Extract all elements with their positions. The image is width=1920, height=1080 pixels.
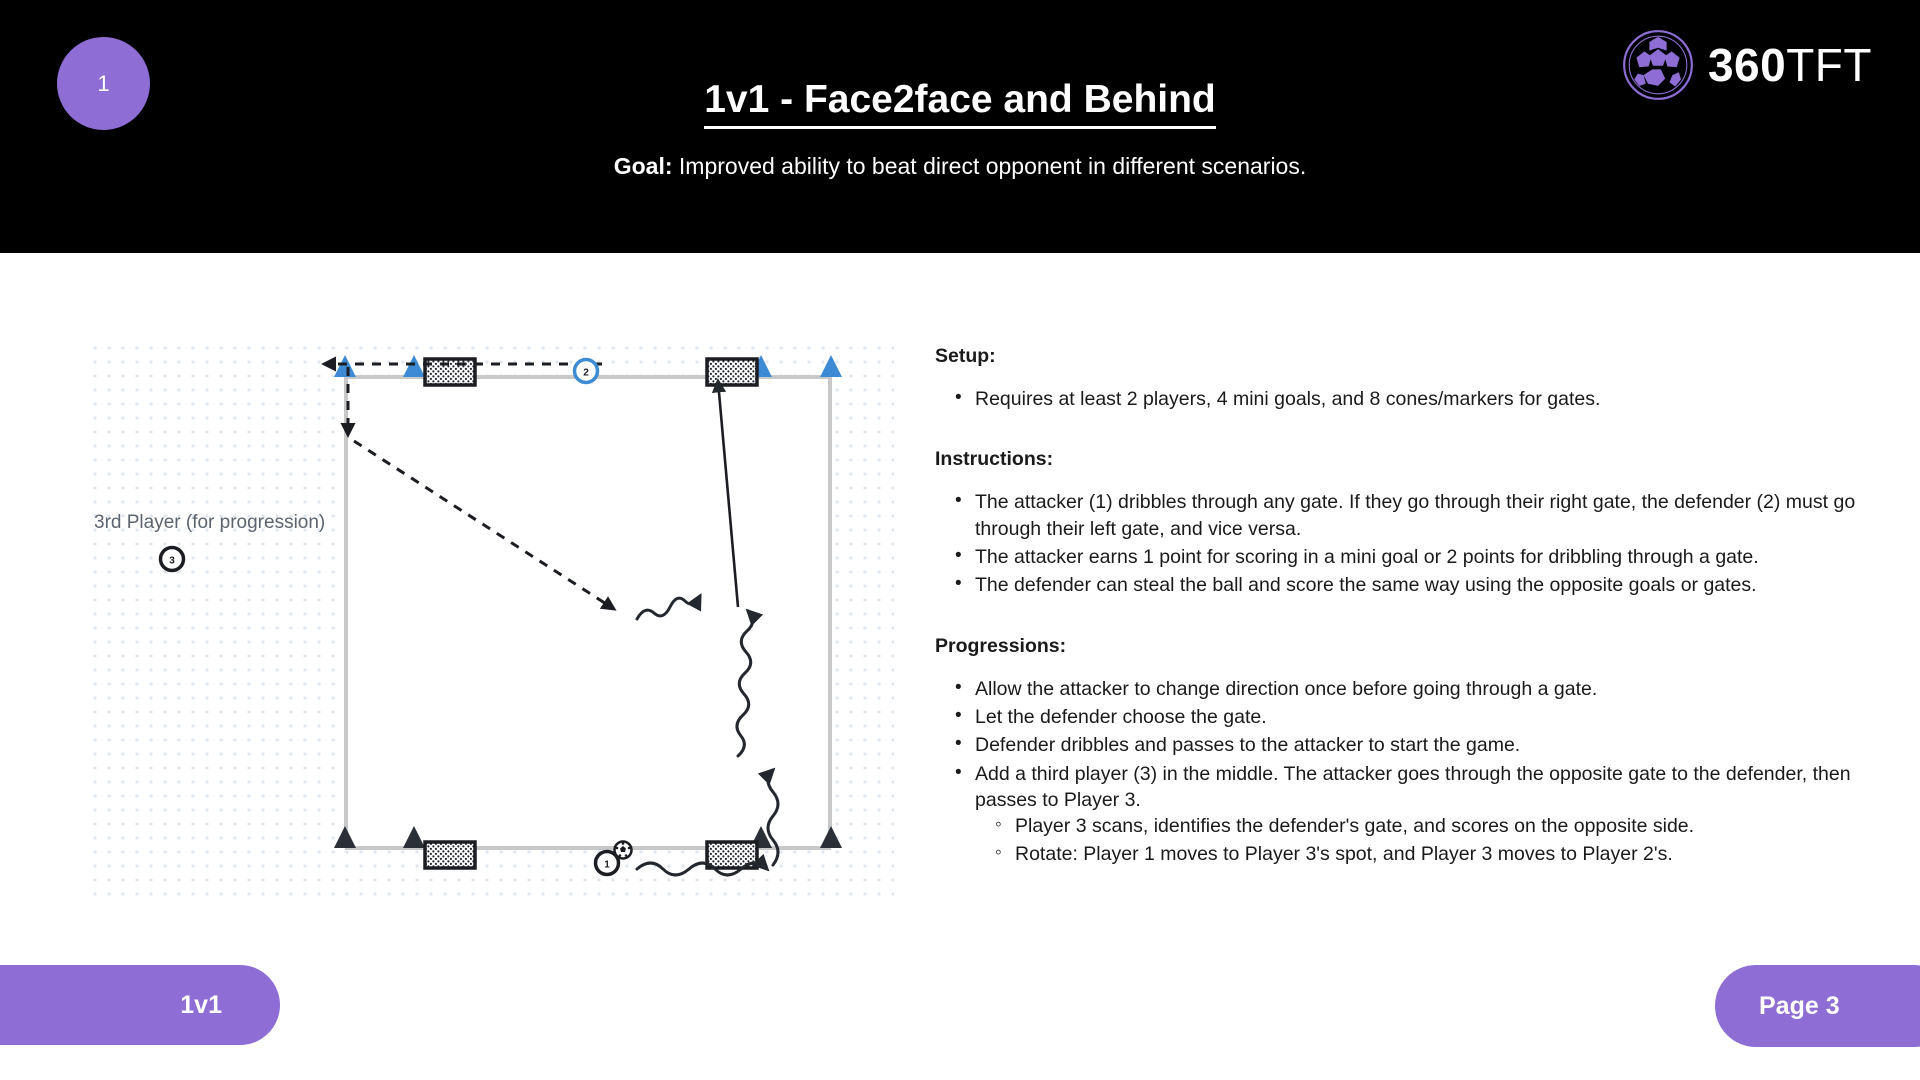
brand-logo: 360TFT [1622, 29, 1872, 101]
player-3-marker: 3 [161, 548, 184, 571]
list-item: Defender dribbles and passes to the atta… [935, 732, 1885, 758]
player-2-marker: 2 [575, 360, 598, 383]
list-item: The attacker (1) dribbles through any ga… [935, 489, 1885, 542]
category-pill: 1v1 [0, 965, 280, 1045]
list-item-text: Add a third player (3) in the middle. Th… [975, 763, 1851, 811]
drill-diagram-svg: 2 1 3 3rd Player [92, 345, 894, 897]
list-item: The attacker earns 1 point for scoring i… [935, 544, 1885, 570]
category-pill-label: 1v1 [180, 991, 222, 1020]
page-pill: Page 3 [1715, 965, 1920, 1047]
list-item: Let the defender choose the gate. [935, 704, 1885, 730]
goal-statement: Goal: Improved ability to beat direct op… [0, 152, 1920, 182]
list-item: Allow the attacker to change direction o… [935, 676, 1885, 702]
player-1-number: 1 [604, 860, 610, 871]
setup-heading: Setup: [935, 345, 1885, 368]
list-item: Add a third player (3) in the middle. Th… [935, 761, 1885, 868]
list-item: Rotate: Player 1 moves to Player 3's spo… [975, 841, 1885, 867]
setup-list: Requires at least 2 players, 4 mini goal… [935, 386, 1885, 412]
list-item: The defender can steal the ball and scor… [935, 572, 1885, 598]
brand-name-tft: TFT [1786, 39, 1872, 91]
progressions-sub-list: Player 3 scans, identifies the defender'… [975, 813, 1885, 868]
instructions-heading: Instructions: [935, 448, 1885, 471]
player-2-number: 2 [583, 368, 589, 379]
soccer-ball-icon [1622, 29, 1694, 101]
progressions-heading: Progressions: [935, 635, 1885, 658]
mini-goal-top-left [425, 359, 475, 385]
header-bar: 1 1v1 - Face2face and Behind Goal: Impro… [0, 0, 1920, 253]
instructions-panel: Setup: Requires at least 2 players, 4 mi… [935, 345, 1885, 870]
goal-text: Improved ability to beat direct opponent… [673, 153, 1307, 179]
instructions-list: The attacker (1) dribbles through any ga… [935, 489, 1885, 598]
page-title: 1v1 - Face2face and Behind [704, 78, 1216, 129]
pitch-area [345, 376, 831, 849]
slide-page: 1 1v1 - Face2face and Behind Goal: Impro… [0, 0, 1920, 1080]
drill-diagram: 2 1 3 3rd Player [92, 345, 894, 897]
brand-name: 360TFT [1708, 42, 1872, 88]
ball-icon [615, 842, 632, 859]
progressions-list: Allow the attacker to change direction o… [935, 676, 1885, 868]
brand-name-360: 360 [1708, 39, 1786, 91]
mini-goal-bottom-left [425, 842, 475, 868]
list-item: Player 3 scans, identifies the defender'… [975, 813, 1885, 839]
page-pill-label: Page 3 [1759, 992, 1840, 1021]
goal-label: Goal: [614, 153, 673, 179]
list-item: Requires at least 2 players, 4 mini goal… [935, 386, 1885, 412]
player-3-number: 3 [169, 556, 175, 567]
third-player-label: 3rd Player (for progression) [94, 512, 325, 533]
mini-goal-top-right [707, 359, 757, 385]
